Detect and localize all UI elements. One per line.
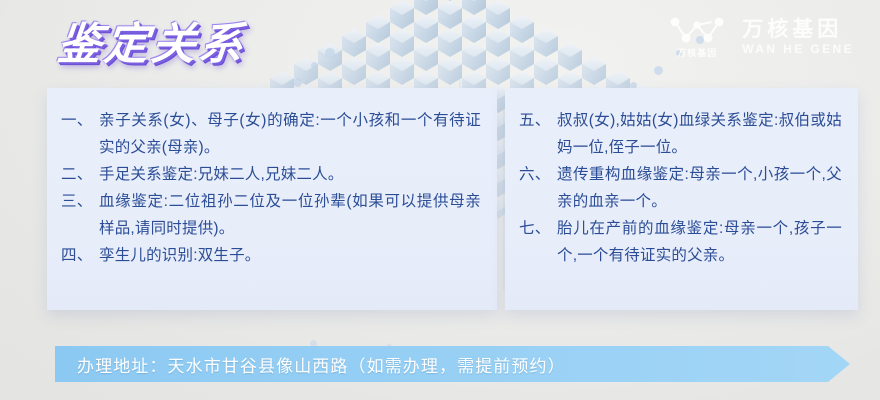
list-item: 一、 亲子关系(女)、母子(女)的确定:一个小孩和一个有待证实的父亲(母亲)。 [61,107,481,161]
promo-banner: 鉴定关系 万核基因 [0,0,880,400]
list-item: 七、 胎儿在产前的血缘鉴定:母亲一个,孩子一个,一个有待证实的父亲。 [519,215,842,269]
relationship-list-panel-left: 一、 亲子关系(女)、母子(女)的确定:一个小孩和一个有待证实的父亲(母亲)。 … [47,88,497,310]
brand-wordmark: 万核基因 WAN HE GENE [742,19,854,56]
list-item-number: 六、 [519,161,557,188]
molecule-network-icon [668,16,726,46]
list-item-number: 五、 [519,107,557,134]
brand-mark-text: 万核基因 [677,49,717,58]
page-title: 鉴定关系 [55,8,250,72]
list-item: 五、 叔叔(女),姑姑(女)血绿关系鉴定:叔伯或姑妈一位,侄子一位。 [519,107,842,161]
list-item: 三、 血缘鉴定:二位祖孙二位及一位孙辈(如果可以提供母亲样品,请同时提供)。 [61,188,481,242]
brand-logo: 万核基因 万核基因 WAN HE GENE [668,16,854,58]
list-item-number: 四、 [61,242,99,269]
list-item-text: 血缘鉴定:二位祖孙二位及一位孙辈(如果可以提供母亲样品,请同时提供)。 [99,188,481,242]
list-item-text: 遗传重构血缘鉴定:母亲一个,小孩一个,父亲的血亲一个。 [557,161,842,215]
brand-mark: 万核基因 [668,16,726,58]
address-ribbon: 办理地址：天水市甘谷县像山西路（如需办理，需提前预约） [55,346,850,382]
relationship-list-panel-right: 五、 叔叔(女),姑姑(女)血绿关系鉴定:叔伯或姑妈一位,侄子一位。 六、 遗传… [505,88,858,310]
list-item-text: 叔叔(女),姑姑(女)血绿关系鉴定:叔伯或姑妈一位,侄子一位。 [557,107,842,161]
address-text: 办理地址：天水市甘谷县像山西路（如需办理，需提前预约） [77,352,566,377]
list-item-text: 手足关系鉴定:兄妹二人,兄妹二人。 [99,161,481,188]
brand-name-cn: 万核基因 [742,19,854,41]
list-item-text: 胎儿在产前的血缘鉴定:母亲一个,孩子一个,一个有待证实的父亲。 [557,215,842,269]
address-ribbon-body: 办理地址：天水市甘谷县像山西路（如需办理，需提前预约） [55,346,850,382]
list-item-number: 二、 [61,161,99,188]
list-item: 四、 孪生儿的识别:双生子。 [61,242,481,269]
list-item-number: 三、 [61,188,99,215]
brand-name-en: WAN HE GENE [742,43,854,56]
list-item: 六、 遗传重构血缘鉴定:母亲一个,小孩一个,父亲的血亲一个。 [519,161,842,215]
list-item-text: 亲子关系(女)、母子(女)的确定:一个小孩和一个有待证实的父亲(母亲)。 [99,107,481,161]
list-item-number: 一、 [61,107,99,134]
list-item-number: 七、 [519,215,557,242]
list-item-text: 孪生儿的识别:双生子。 [99,242,481,269]
list-item: 二、 手足关系鉴定:兄妹二人,兄妹二人。 [61,161,481,188]
